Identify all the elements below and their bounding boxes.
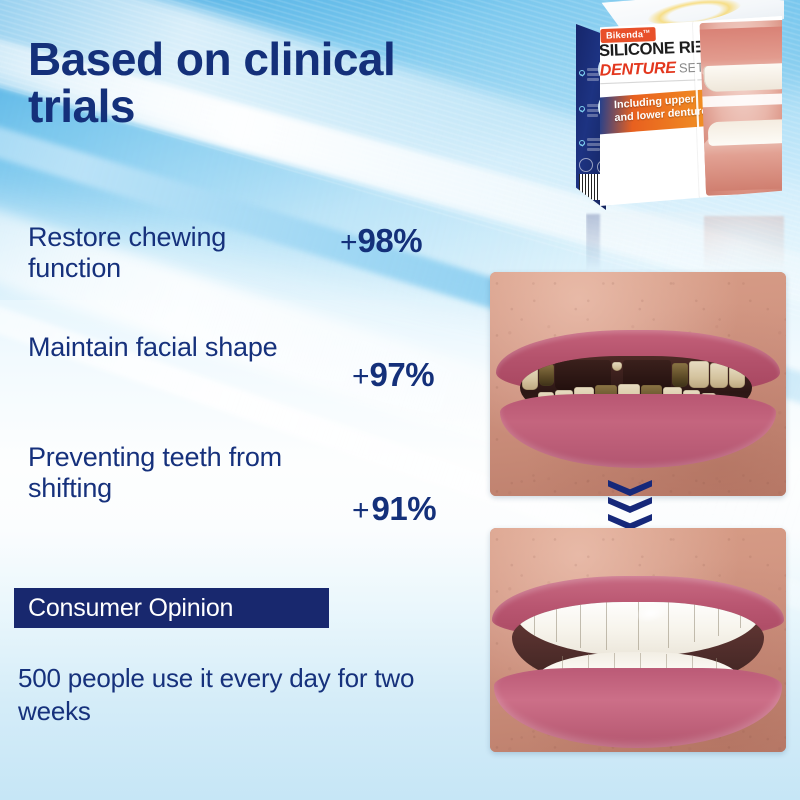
consumer-opinion-title: Consumer Opinion — [28, 594, 233, 623]
check-icon — [579, 106, 585, 112]
product-package: BikendaTM SILICONE RELINE DENTURESET Inc… — [576, 0, 800, 244]
benefit-row: Preventing teeth from shifting +91% — [22, 442, 482, 552]
side-text-line — [587, 78, 599, 81]
barcode — [579, 174, 601, 200]
box-window-frame — [693, 16, 782, 200]
consumer-opinion-text: 500 people use it every day for two week… — [18, 662, 458, 729]
benefit-percent-value: 98% — [358, 222, 423, 259]
page-title: Based on clinical trials — [28, 36, 508, 131]
benefit-percent: +91% — [352, 490, 436, 528]
benefit-percent-value: 97% — [370, 356, 435, 393]
ad-canvas: Based on clinical trials Restore chewing… — [0, 0, 800, 800]
benefit-percent: +98% — [340, 222, 422, 260]
benefit-row: Maintain facial shape +97% — [22, 332, 482, 442]
benefit-row: Restore chewing function +98% — [22, 222, 482, 332]
benefit-label: Maintain facial shape — [28, 332, 318, 363]
box-front-face: BikendaTM SILICONE RELINE DENTURESET Inc… — [600, 16, 782, 206]
check-icon — [579, 70, 585, 76]
benefits-list: Restore chewing function +98% Maintain f… — [22, 222, 482, 552]
product-box-3d: BikendaTM SILICONE RELINE DENTURESET Inc… — [576, 0, 800, 209]
after-photo — [490, 528, 786, 752]
product-title-line2: DENTURESET — [600, 58, 705, 81]
benefit-plus-sign: + — [340, 226, 358, 259]
benefit-percent-value: 91% — [372, 490, 437, 527]
benefit-label: Restore chewing function — [28, 222, 318, 285]
side-text-line — [587, 143, 601, 146]
side-text-line — [587, 114, 598, 117]
reflection-photo — [704, 216, 784, 272]
chevron-down-icon — [608, 497, 652, 513]
certification-seal-icon — [579, 158, 593, 172]
after-upper-teeth-arch — [514, 602, 762, 656]
chevron-down-icon — [608, 480, 652, 496]
box-reflection — [586, 206, 796, 272]
benefit-label: Preventing teeth from shifting — [28, 442, 318, 505]
benefit-percent: +97% — [352, 356, 434, 394]
trademark-symbol: TM — [643, 28, 650, 34]
side-text-line — [587, 148, 600, 151]
consumer-opinion-bar: Consumer Opinion — [14, 588, 329, 628]
before-photo — [490, 272, 786, 496]
tooth-highlight — [633, 602, 670, 625]
benefit-plus-sign: + — [352, 360, 370, 393]
check-icon — [579, 140, 585, 146]
product-title-denture: DENTURE — [600, 59, 676, 80]
box-front-content: BikendaTM SILICONE RELINE DENTURESET Inc… — [600, 16, 782, 206]
benefit-plus-sign: + — [352, 494, 372, 527]
brand-name: Bikenda — [606, 29, 644, 41]
